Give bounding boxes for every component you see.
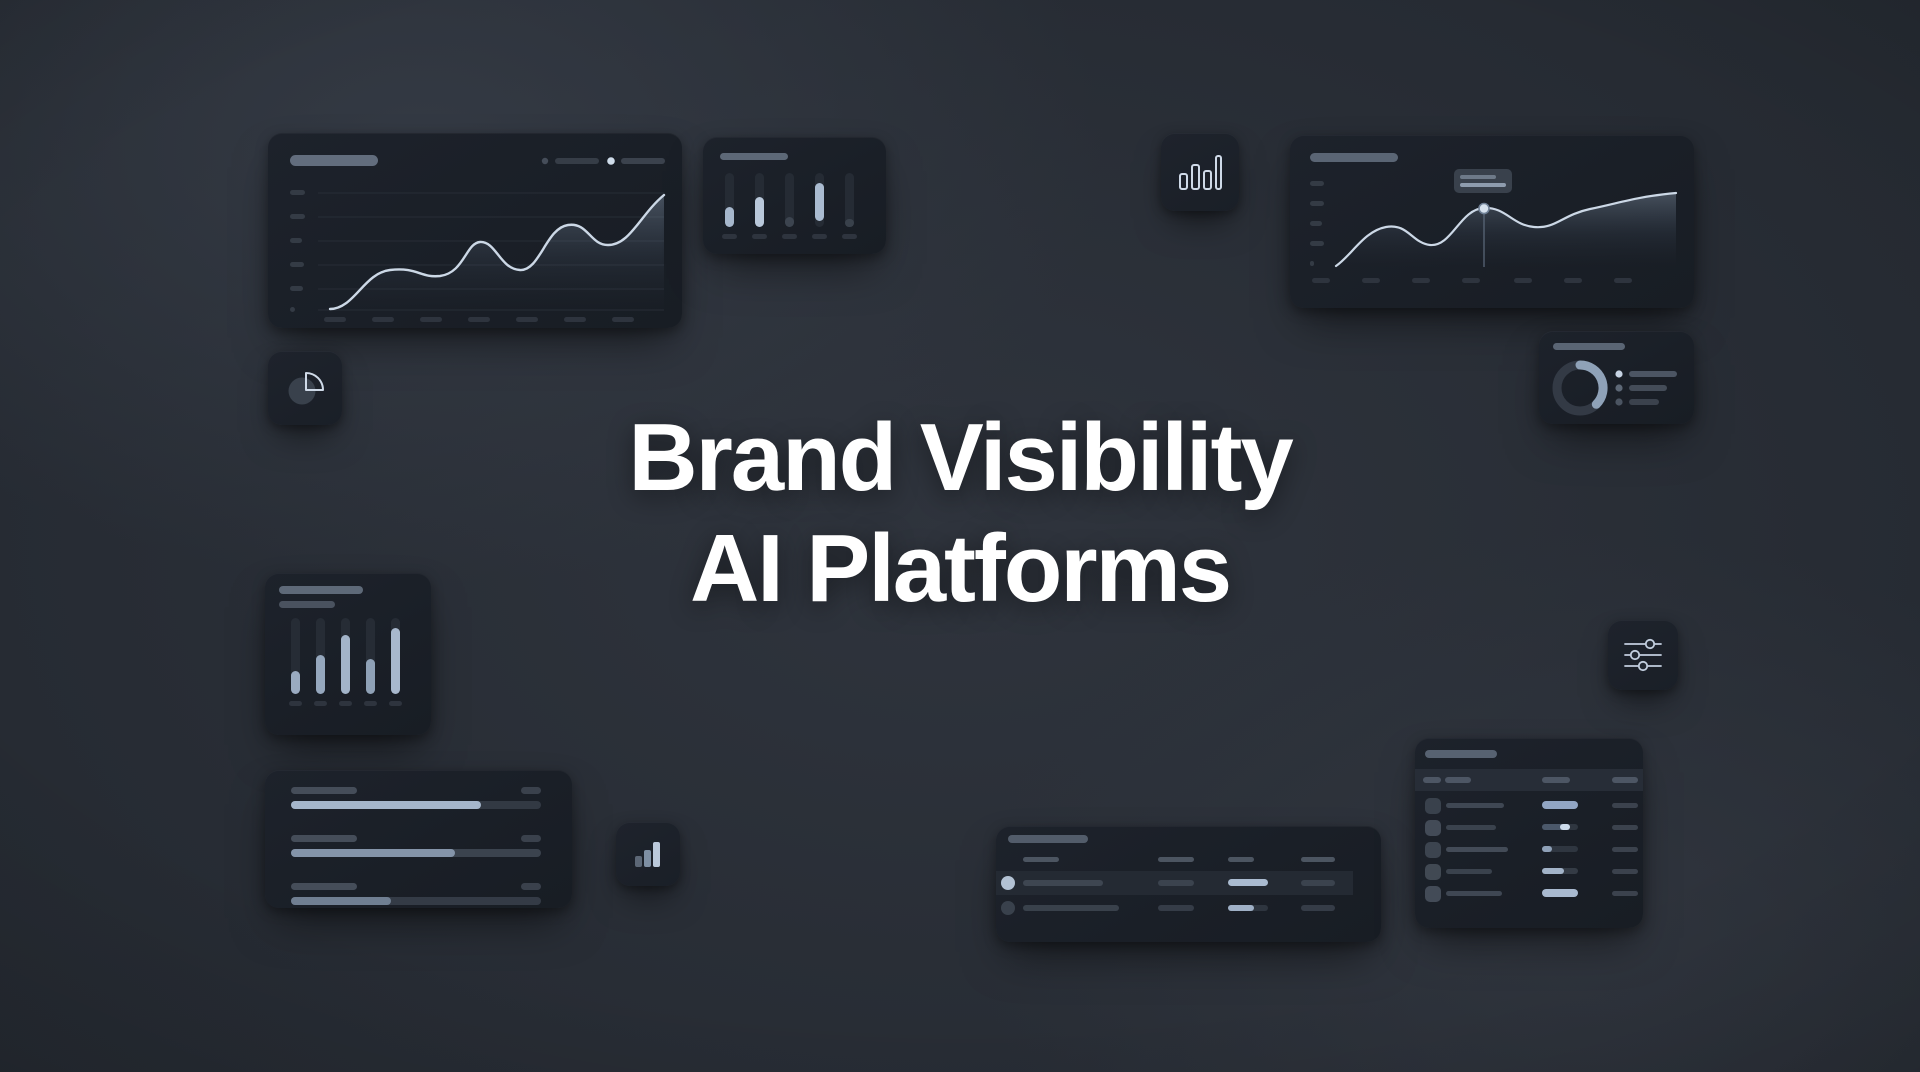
avatar bbox=[1001, 876, 1015, 890]
table-row bbox=[1425, 886, 1638, 902]
sliders-icon bbox=[1623, 638, 1663, 672]
x-axis-ticks bbox=[1312, 278, 1632, 283]
slider-group bbox=[722, 173, 857, 239]
table-row bbox=[1425, 842, 1638, 858]
ranking-table-svg bbox=[1415, 738, 1643, 928]
avatar bbox=[1425, 798, 1441, 814]
area-chart-right-card[interactable] bbox=[1290, 135, 1694, 308]
background-stage: Brand Visibility AI Platforms bbox=[0, 0, 1920, 1072]
card-title-bar bbox=[1008, 835, 1088, 843]
bar-chart-icon bbox=[1178, 152, 1222, 192]
donut-legend bbox=[1615, 370, 1677, 405]
mini-bar-chart-tile[interactable] bbox=[616, 822, 680, 886]
area-chart-left-svg bbox=[268, 133, 682, 328]
legend-label-1 bbox=[555, 158, 599, 164]
area-chart-left-card[interactable] bbox=[268, 133, 682, 328]
legend-dot-1 bbox=[542, 158, 548, 164]
avatar bbox=[1425, 842, 1441, 858]
tooltip bbox=[1454, 169, 1512, 193]
page-title-line-2: AI Platforms bbox=[0, 513, 1920, 624]
legend-dot-2 bbox=[607, 157, 615, 165]
progress-row bbox=[291, 883, 541, 905]
bar-fills bbox=[291, 628, 400, 694]
avatar bbox=[1425, 864, 1441, 880]
table-row bbox=[1425, 864, 1638, 880]
slider-fill-1 bbox=[725, 207, 734, 227]
sliders-top-card[interactable] bbox=[703, 137, 886, 254]
table-row bbox=[1425, 798, 1638, 814]
card-title-bar bbox=[1553, 343, 1625, 350]
x-axis-ticks bbox=[324, 317, 634, 322]
bar-chart-icon bbox=[632, 838, 664, 870]
bar-chart-icon-tile[interactable] bbox=[1161, 133, 1239, 211]
progress-row bbox=[291, 787, 541, 809]
card-title-bar bbox=[1425, 750, 1497, 758]
y-axis-ticks bbox=[1310, 181, 1324, 266]
data-point-marker bbox=[1479, 204, 1489, 214]
table-row bbox=[1425, 820, 1638, 836]
card-title-bar bbox=[720, 153, 788, 160]
table-row bbox=[996, 871, 1353, 895]
avatar bbox=[1425, 886, 1441, 902]
avatar bbox=[1001, 901, 1015, 915]
progress-list-svg bbox=[265, 770, 572, 908]
ranking-table-card[interactable] bbox=[1415, 738, 1643, 928]
area-fill bbox=[1336, 193, 1676, 267]
card-title-bar bbox=[1310, 153, 1398, 162]
card-title-bar bbox=[290, 155, 378, 166]
avatar bbox=[1425, 820, 1441, 836]
slider-fill-2 bbox=[755, 197, 764, 227]
page-title-line-1: Brand Visibility bbox=[628, 404, 1291, 511]
table-header-row bbox=[1023, 857, 1335, 862]
sliders-top-svg bbox=[703, 137, 886, 254]
slider-fill-5 bbox=[845, 219, 854, 227]
table-row bbox=[1001, 901, 1335, 915]
progress-row bbox=[291, 835, 541, 857]
table-center-svg bbox=[996, 826, 1381, 942]
slider-fill-4 bbox=[815, 183, 824, 221]
area-chart-right-svg bbox=[1290, 135, 1694, 308]
table-center-card[interactable] bbox=[996, 826, 1381, 942]
page-title: Brand Visibility AI Platforms bbox=[0, 402, 1920, 625]
legend-label-2 bbox=[621, 158, 665, 164]
slider-fill-3 bbox=[785, 217, 794, 227]
sliders-icon-tile[interactable] bbox=[1608, 620, 1678, 690]
bar-labels bbox=[289, 701, 402, 706]
progress-list-card[interactable] bbox=[265, 770, 572, 908]
y-axis-ticks bbox=[290, 190, 305, 312]
